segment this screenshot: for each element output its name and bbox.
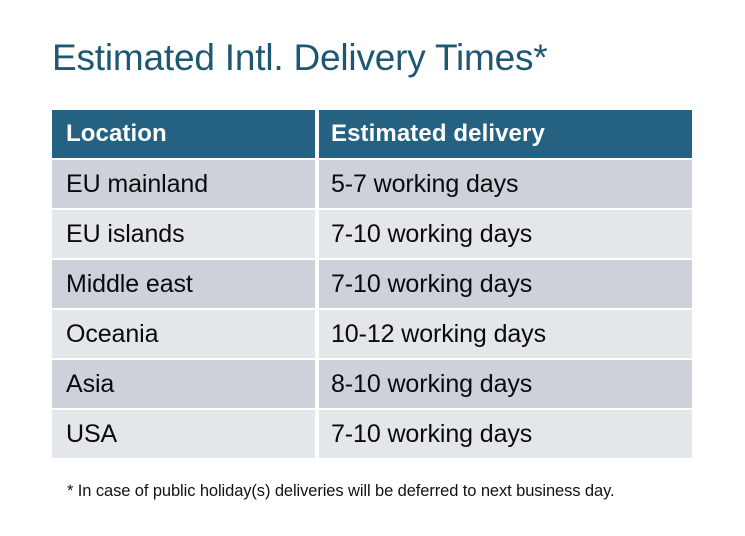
footnote-text: * In case of public holiday(s) deliverie…	[67, 480, 707, 502]
cell-location: Middle east	[52, 260, 315, 308]
cell-estimated-delivery: 8-10 working days	[319, 360, 692, 408]
cell-estimated-delivery: 7-10 working days	[319, 210, 692, 258]
column-header-location: Location	[52, 110, 315, 158]
cell-location: EU mainland	[52, 160, 315, 208]
page-title: Estimated Intl. Delivery Times*	[52, 36, 712, 80]
table-row: EU mainland 5-7 working days	[52, 160, 692, 208]
cell-location: USA	[52, 410, 315, 458]
cell-location: Oceania	[52, 310, 315, 358]
cell-estimated-delivery: 7-10 working days	[319, 260, 692, 308]
table-row: USA 7-10 working days	[52, 410, 692, 458]
cell-estimated-delivery: 7-10 working days	[319, 410, 692, 458]
delivery-times-card: Estimated Intl. Delivery Times* Location…	[0, 0, 745, 536]
column-header-estimated-delivery: Estimated delivery	[319, 110, 692, 158]
cell-estimated-delivery: 10-12 working days	[319, 310, 692, 358]
table-row: Middle east 7-10 working days	[52, 260, 692, 308]
cell-location: EU islands	[52, 210, 315, 258]
table-row: Oceania 10-12 working days	[52, 310, 692, 358]
table-row: Asia 8-10 working days	[52, 360, 692, 408]
table-header-row: Location Estimated delivery	[52, 110, 692, 158]
delivery-times-table: Location Estimated delivery EU mainland …	[52, 110, 692, 460]
table-row: EU islands 7-10 working days	[52, 210, 692, 258]
cell-estimated-delivery: 5-7 working days	[319, 160, 692, 208]
cell-location: Asia	[52, 360, 315, 408]
